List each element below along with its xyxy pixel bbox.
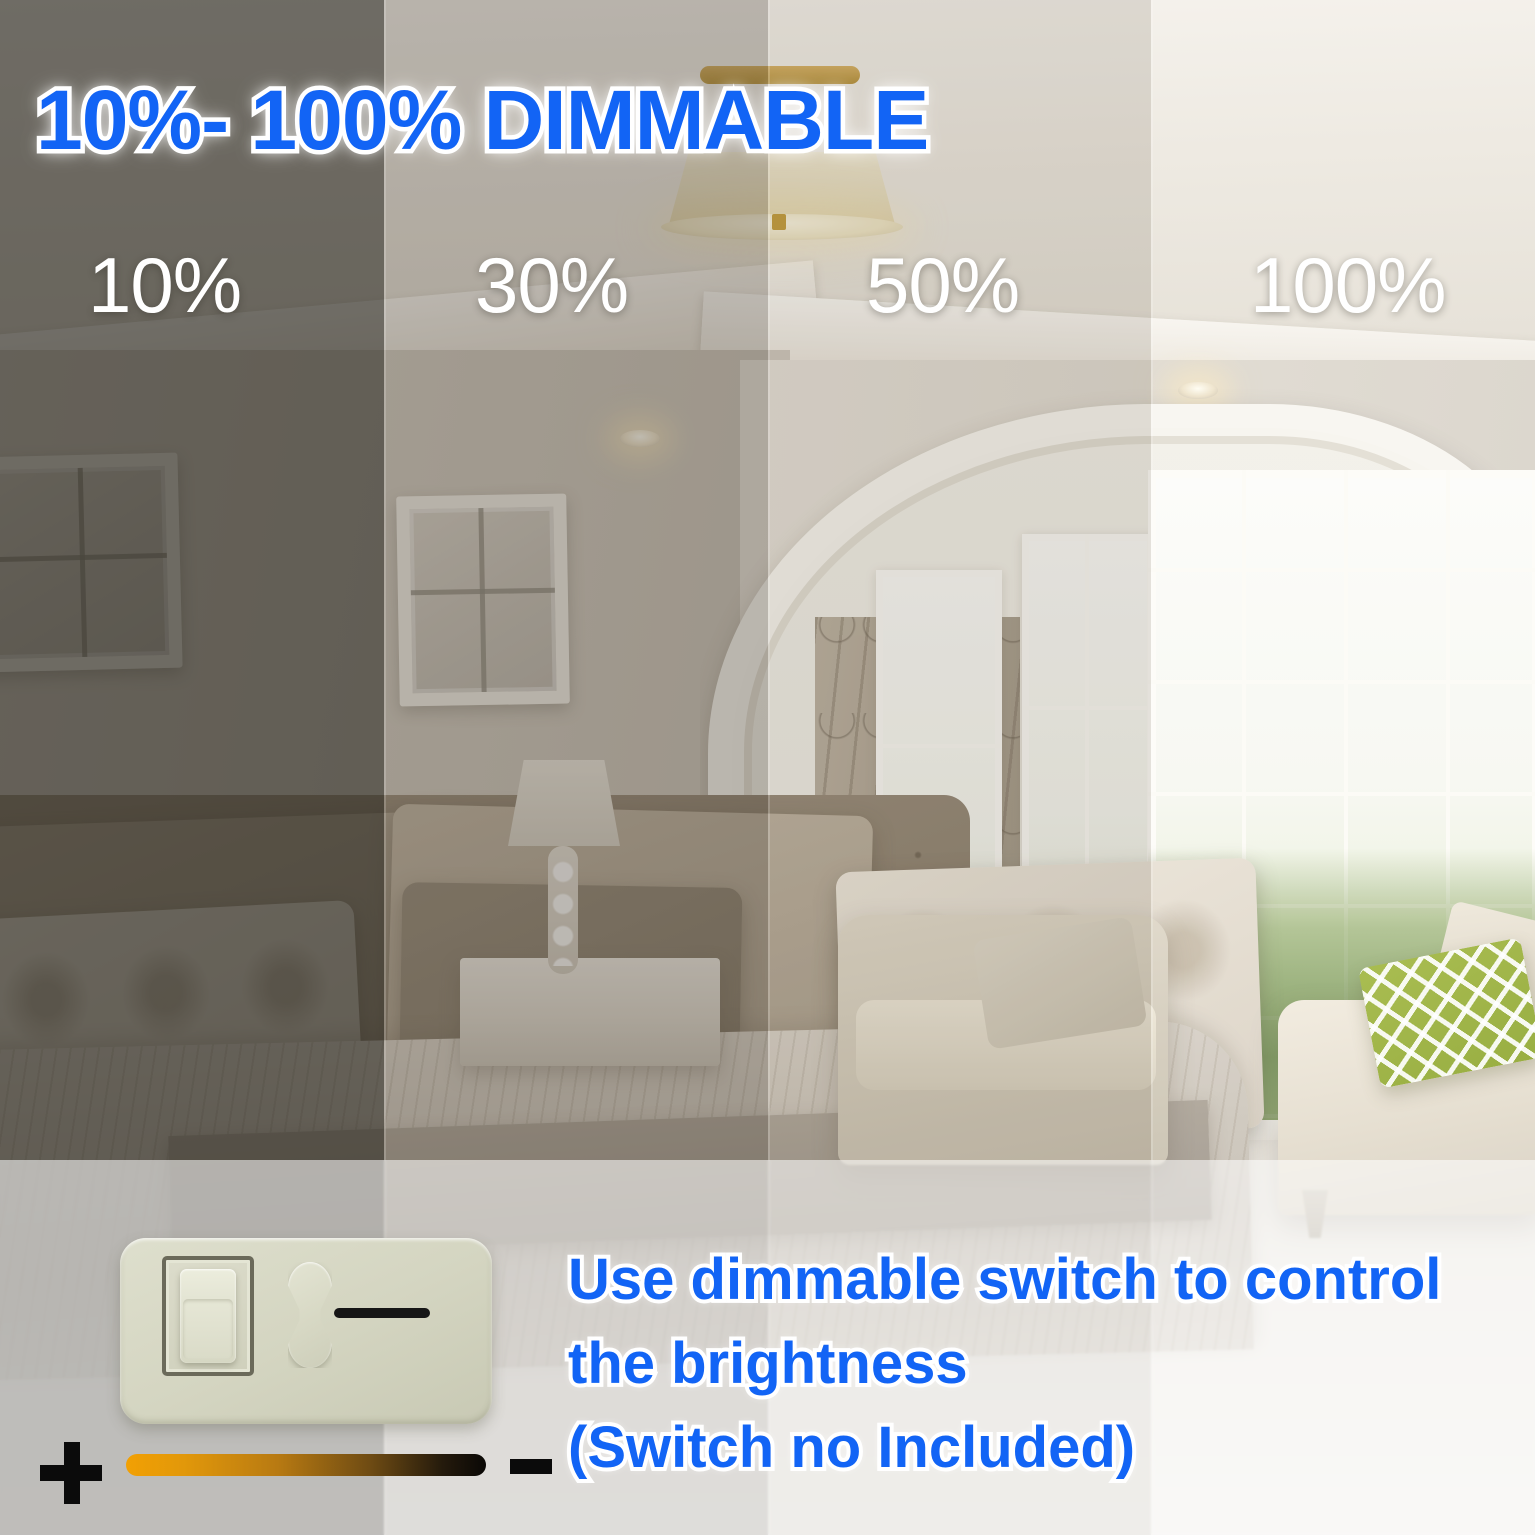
- dimmer-switch-plate-icon: [120, 1238, 492, 1424]
- rocker-switch-icon: [180, 1269, 236, 1363]
- brightness-label-30: 30%: [475, 240, 628, 331]
- page-title: 10%- 100% DIMMABLE: [36, 72, 928, 169]
- brightness-control-row: [40, 1442, 560, 1504]
- product-infographic: 10% 30% 50% 100% 10%- 100% DIMMABLE Use …: [0, 0, 1535, 1535]
- slider-track-icon: [334, 1308, 430, 1318]
- brightness-label-50: 50%: [866, 240, 1019, 331]
- minus-icon: [510, 1459, 552, 1474]
- slider-knob-icon[interactable]: [288, 1262, 332, 1368]
- brightness-label-100: 100%: [1250, 240, 1446, 331]
- bottom-caption: Use dimmable switch to control the brigh…: [568, 1238, 1528, 1490]
- caption-line-1: Use dimmable switch to control: [568, 1238, 1528, 1322]
- rocker-switch-frame-icon: [162, 1256, 254, 1376]
- plus-icon: [40, 1442, 102, 1504]
- brightness-gradient-bar-icon[interactable]: [126, 1454, 486, 1476]
- brightness-label-10: 10%: [88, 240, 241, 331]
- caption-line-2: the brightness: [568, 1322, 1528, 1406]
- caption-line-3: (Switch no Included): [568, 1406, 1528, 1490]
